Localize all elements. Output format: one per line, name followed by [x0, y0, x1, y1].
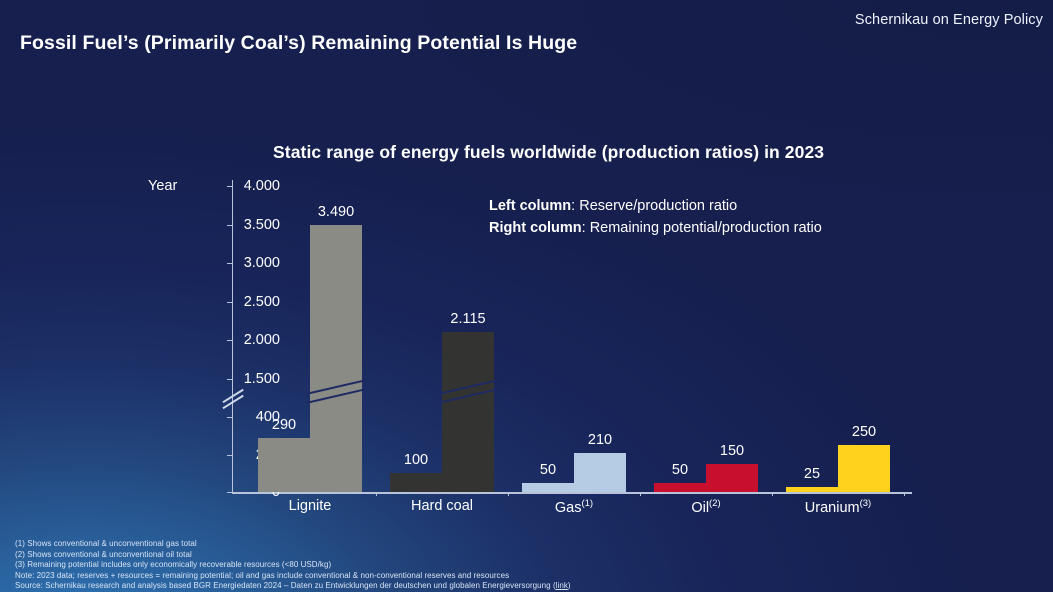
bar-value-label-uranium-potential: 250: [852, 424, 876, 440]
bar-value-label-oil-reserve: 50: [672, 462, 688, 478]
y-axis-label-3: 2.500: [244, 294, 280, 310]
y-axis-label-5: 1.500: [244, 371, 280, 387]
x-axis-category-gas: Gas(1): [555, 498, 593, 516]
y-axis-tick-2: [227, 263, 233, 264]
bar-lignite-potential[interactable]: [310, 225, 362, 492]
x-axis-category-oil: Oil(2): [691, 498, 720, 516]
y-axis-label-0: 4.000: [244, 178, 280, 194]
x-axis-tick-0: [376, 492, 377, 496]
category-name: Lignite: [289, 498, 332, 514]
bar-chart-plot-area: 4.0003.5003.0002.5002.0001.5004002000 29…: [232, 180, 912, 492]
bar-lignite-reserve[interactable]: [258, 438, 310, 492]
footnotes-block: (1) Shows conventional & unconventional …: [15, 539, 571, 592]
x-axis-tick-4: [904, 492, 905, 496]
bar-value-label-gas-reserve: 50: [540, 462, 556, 478]
category-footnote-marker: (2): [709, 498, 721, 509]
footnote-3: (3) Remaining potential includes only ec…: [15, 560, 571, 571]
y-axis-label-1: 3.500: [244, 217, 280, 233]
footnote-note: Note: 2023 data; reserves + resources = …: [15, 571, 571, 582]
category-footnote-marker: (1): [581, 498, 593, 509]
source-text-pre: Source: Schernikau research and analysis…: [15, 581, 556, 590]
source-link[interactable]: link: [556, 581, 568, 590]
category-footnote-marker: (3): [860, 498, 872, 509]
bar-value-label-lignite-reserve: 290: [272, 417, 296, 433]
bar-oil-reserve[interactable]: [654, 483, 706, 492]
y-axis-tick-6: [227, 417, 233, 418]
y-axis-unit-label: Year: [148, 178, 177, 194]
bar-gas-reserve[interactable]: [522, 483, 574, 492]
y-axis-tick-4: [227, 340, 233, 341]
bar-hard-coal-reserve[interactable]: [390, 473, 442, 492]
footnote-2: (2) Shows conventional & unconventional …: [15, 550, 571, 561]
bar-value-label-hard-coal-reserve: 100: [404, 452, 428, 468]
x-axis-line: [232, 492, 912, 494]
bar-oil-potential[interactable]: [706, 464, 758, 492]
x-axis-tick-3: [772, 492, 773, 496]
bar-gas-potential[interactable]: [574, 453, 626, 492]
source-text-post: ): [568, 581, 571, 590]
bar-value-label-gas-potential: 210: [588, 432, 612, 448]
y-axis-tick-3: [227, 302, 233, 303]
x-axis-category-hard-coal: Hard coal: [411, 498, 473, 514]
x-axis-tick-1: [508, 492, 509, 496]
bar-value-label-uranium-reserve: 25: [804, 466, 820, 482]
bar-value-label-hard-coal-potential: 2.115: [450, 311, 485, 327]
x-axis-category-uranium: Uranium(3): [805, 498, 871, 516]
chart-title: Static range of energy fuels worldwide (…: [273, 142, 824, 163]
bar-value-label-oil-potential: 150: [720, 443, 744, 459]
category-name: Hard coal: [411, 498, 473, 514]
y-axis-tick-0: [227, 186, 233, 187]
category-name: Gas: [555, 500, 582, 516]
bar-axis-break-icon: [442, 393, 443, 394]
y-axis-label-2: 3.000: [244, 255, 280, 271]
bar-hard-coal-potential[interactable]: [442, 332, 494, 492]
x-axis-category-lignite: Lignite: [289, 498, 332, 514]
footnote-source: Source: Schernikau research and analysis…: [15, 581, 571, 592]
bar-value-label-lignite-potential: 3.490: [318, 204, 354, 220]
bar-uranium-potential[interactable]: [838, 445, 890, 492]
y-axis-tick-1: [227, 225, 233, 226]
y-axis-tick-8: [227, 492, 233, 493]
bar-uranium-reserve[interactable]: [786, 487, 838, 492]
y-axis-tick-7: [227, 455, 233, 456]
category-name: Uranium: [805, 500, 860, 516]
y-axis-label-4: 2.000: [244, 332, 280, 348]
footnote-1: (1) Shows conventional & unconventional …: [15, 539, 571, 550]
y-axis-tick-5: [227, 379, 233, 380]
category-name: Oil: [691, 500, 709, 516]
page-title: Fossil Fuel’s (Primarily Coal’s) Remaini…: [20, 32, 577, 55]
bar-axis-break-icon: [310, 393, 311, 394]
brand-label: Schernikau on Energy Policy: [855, 12, 1043, 28]
x-axis-tick-2: [640, 492, 641, 496]
